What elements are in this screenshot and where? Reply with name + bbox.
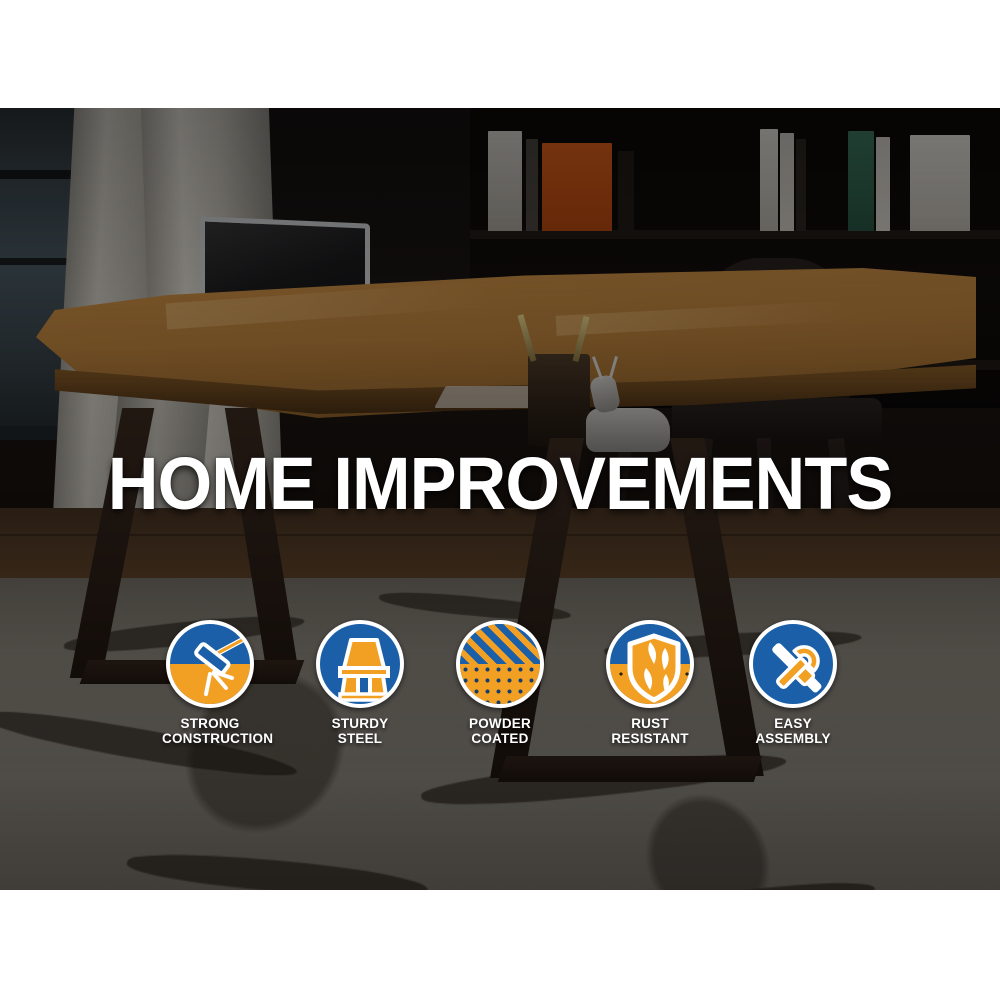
coating-texture-icon — [460, 624, 540, 664]
badge-label: EASY ASSEMBLY — [745, 717, 841, 746]
badge-disc — [606, 620, 694, 708]
badge-label-line1: POWDER — [452, 717, 548, 732]
badge-label-line1: EASY — [745, 717, 841, 732]
wrench-screwdriver-icon — [753, 624, 833, 704]
badge-label: STURDY STEEL — [312, 717, 408, 746]
feature-badge-rust-resistant[interactable]: RUST RESISTANT — [602, 620, 698, 746]
badge-label-line2: STEEL — [312, 732, 408, 747]
feature-badge-powder-coated[interactable]: POWDER COATED — [452, 620, 548, 746]
feature-badge-row: STRONG CONSTRUCTION STURDY — [140, 620, 860, 780]
badge-disc — [456, 620, 544, 708]
badge-label-line2: COATED — [452, 732, 548, 747]
shield-water-icon — [610, 624, 690, 704]
badge-label-line2: ASSEMBLY — [745, 732, 841, 747]
feature-badge-easy-assembly[interactable]: EASY ASSEMBLY — [745, 620, 841, 746]
badge-label-line1: STRONG — [162, 717, 258, 732]
hammer-icon — [170, 624, 250, 704]
product-banner: HOME IMPROVEMENTS — [0, 0, 1000, 1000]
badge-label: POWDER COATED — [452, 717, 548, 746]
badge-label: STRONG CONSTRUCTION — [162, 717, 258, 746]
badge-label: RUST RESISTANT — [602, 717, 698, 746]
badge-label-line1: RUST — [602, 717, 698, 732]
feature-badge-sturdy-steel[interactable]: STURDY STEEL — [312, 620, 408, 746]
i-beam-icon — [320, 624, 400, 704]
badge-disc — [316, 620, 404, 708]
page-title: HOME IMPROVEMENTS — [25, 447, 975, 521]
badge-disc — [166, 620, 254, 708]
feature-badge-strong-construction[interactable]: STRONG CONSTRUCTION — [162, 620, 258, 746]
badge-label-line2: CONSTRUCTION — [162, 732, 258, 747]
coating-dots-icon — [460, 664, 540, 704]
badge-label-line1: STURDY — [312, 717, 408, 732]
badge-label-line2: RESISTANT — [602, 732, 698, 747]
badge-disc — [749, 620, 837, 708]
